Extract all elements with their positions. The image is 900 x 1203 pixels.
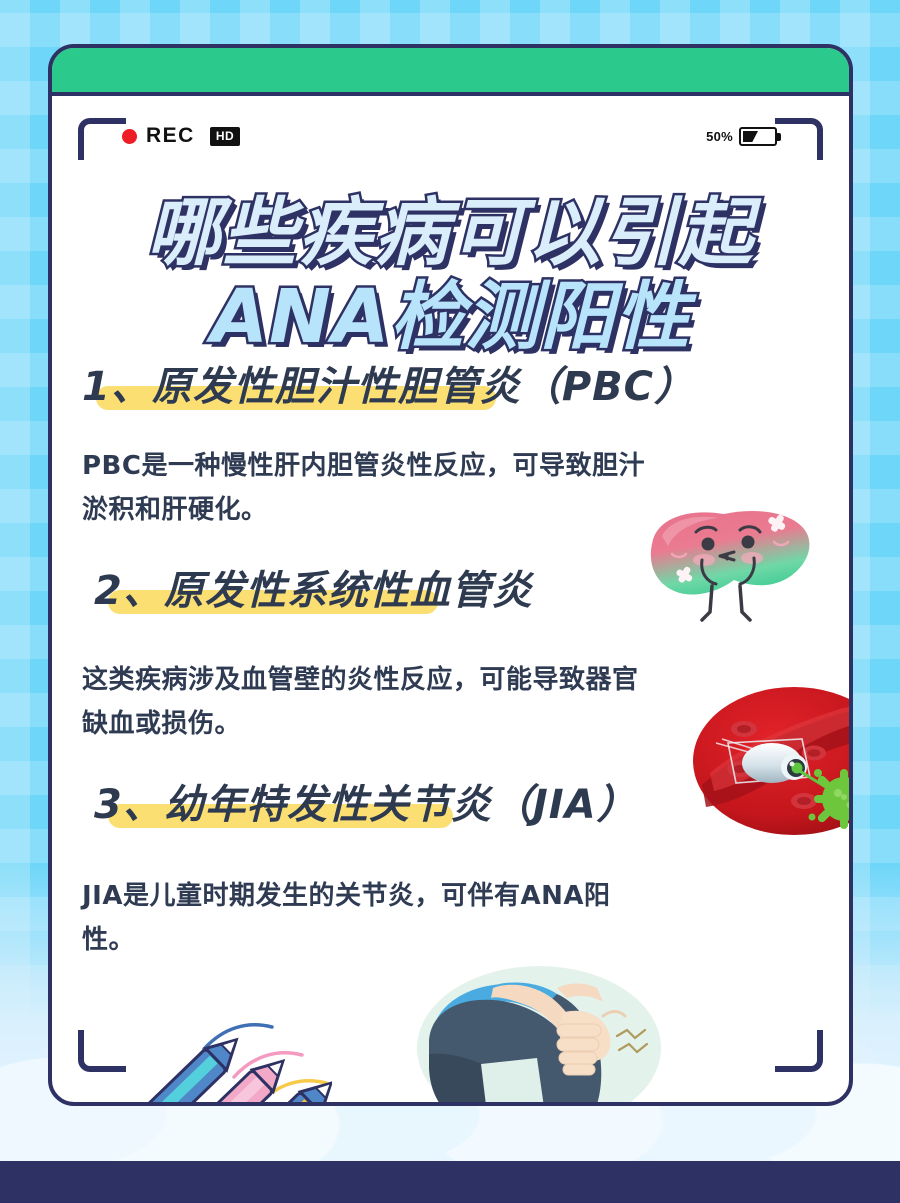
corner-bracket-top-left-icon (78, 118, 126, 160)
battery-indicator: 50% (706, 127, 777, 146)
hd-badge: HD (210, 127, 240, 146)
section-2-heading-text: 2、原发性系统性血管炎 (94, 568, 533, 614)
section-1-heading: 1、原发性胆汁性胆管炎（PBC） (82, 354, 695, 412)
section-1-body: PBC是一种慢性肝内胆管炎性反应，可导致胆汁淤积和肝硬化。 (82, 444, 662, 532)
knee-pain-illustration (407, 958, 672, 1106)
section-2-heading: 2、原发性系统性血管炎 (94, 558, 533, 616)
title-line-1: 哪些疾病可以引起 (52, 191, 849, 275)
rec-indicator: REC HD (122, 124, 240, 148)
section-3-heading-text: 3、幼年特发性关节炎（JIA） (94, 782, 638, 828)
blood-vessel-nanobot-illustration (692, 681, 853, 841)
corner-bracket-bottom-right-icon (775, 1030, 823, 1072)
corner-bracket-top-right-icon (775, 118, 823, 160)
section-3-heading: 3、幼年特发性关节炎（JIA） (94, 772, 638, 830)
content-card: REC HD 50% 哪些疾病可以引起 ANA检测阳性 1、原发性胆汁性胆管炎（… (48, 44, 853, 1106)
battery-fill (743, 131, 758, 142)
battery-percent-label: 50% (706, 129, 733, 144)
section-2-body: 这类疾病涉及血管壁的炎性反应，可能导致器官缺血或损伤。 (82, 658, 662, 746)
page-title: 哪些疾病可以引起 ANA检测阳性 (52, 191, 849, 359)
liver-character-illustration (642, 496, 817, 651)
section-3-body: JIA是儿童时期发生的关节炎，可伴有ANA阳性。 (82, 874, 662, 962)
bottom-bar (0, 1161, 900, 1203)
title-line-2: ANA检测阳性 (52, 275, 849, 359)
card-body: REC HD 50% 哪些疾病可以引起 ANA检测阳性 1、原发性胆汁性胆管炎（… (52, 96, 849, 1098)
section-1-heading-text: 1、原发性胆汁性胆管炎（PBC） (82, 364, 695, 410)
battery-icon (739, 127, 777, 146)
record-dot-icon (122, 129, 137, 144)
card-header-bar (52, 48, 849, 96)
rec-label: REC (146, 124, 195, 148)
colored-pencils-illustration (72, 1001, 332, 1106)
